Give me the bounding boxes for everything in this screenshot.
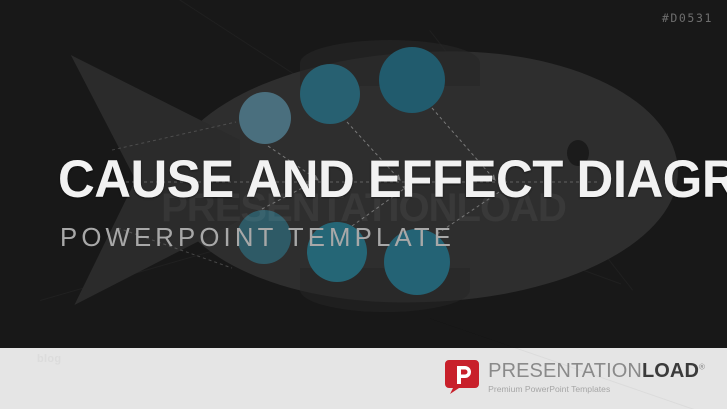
cause-node-cause-3[interactable] (379, 47, 445, 113)
logo-brand-bold: LOAD (642, 360, 699, 382)
blog-label: blog (37, 353, 61, 365)
cause-node-cause-2[interactable] (300, 64, 360, 124)
logo-brand-line: PRESENTATIONLOAD® (488, 361, 705, 381)
slide-canvas: PRESENTATIONLOAD #D0531 CAUSE AND EFFECT… (0, 0, 727, 409)
logo-brand-light: PRESENTATION (488, 360, 642, 382)
registered-mark-icon: ® (699, 362, 705, 371)
logo-tagline: Premium PowerPoint Templates (488, 385, 705, 394)
logo-wordmark: PRESENTATIONLOAD® Premium PowerPoint Tem… (488, 361, 705, 394)
product-code-label: #D0531 (662, 11, 713, 25)
page-title: CAUSE AND EFFECT DIAGRAM (58, 152, 727, 208)
page-subtitle: POWERPOINT TEMPLATE (60, 222, 455, 252)
cause-node-cause-1[interactable] (239, 92, 291, 144)
presentationload-speech-bubble-logo-icon (445, 360, 479, 394)
presentationload-logo[interactable]: PRESENTATIONLOAD® Premium PowerPoint Tem… (445, 360, 705, 394)
